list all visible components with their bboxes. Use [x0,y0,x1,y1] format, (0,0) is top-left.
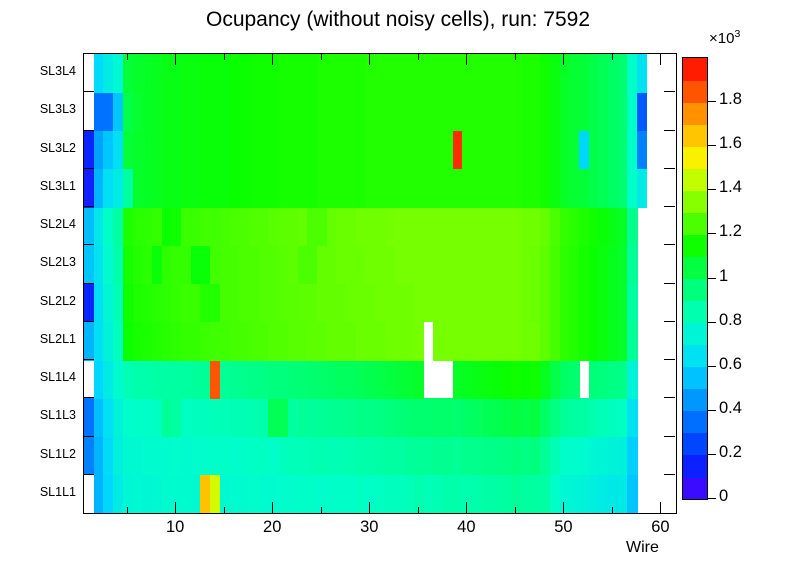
y-axis-label-sl3l4: SL3L4 [28,64,76,78]
y-axis-tick [664,283,675,284]
x-axis-tick [321,54,322,60]
y-axis-label-sl1l1: SL1L1 [28,485,76,499]
colorbar-segment [683,124,707,147]
x-axis-tick [272,502,273,513]
x-axis-tick [466,54,467,65]
colorbar[interactable] [682,57,708,500]
colorbar-multiplier: ×103 [709,28,740,47]
colorbar-segment [683,212,707,235]
colorbar-segment [683,279,707,302]
colorbar-segment [683,455,707,478]
y-axis-label-sl1l2: SL1L2 [28,447,76,461]
plot-frame [83,53,677,514]
x-axis-tick [563,502,564,513]
y-axis-tick [83,130,94,131]
colorbar-segment [683,301,707,324]
colorbar-label-1p6: 1.6 [719,134,742,153]
x-axis-tick [369,54,370,65]
heatmap-grid[interactable] [84,54,676,513]
y-axis-tick [83,91,94,92]
heatmap-cell [569,360,579,399]
heatmap-cell [414,322,424,361]
x-axis-tick [418,54,419,60]
colorbar-segment [683,345,707,368]
x-axis-tick [515,54,516,60]
colorbar-label-1: 1 [719,267,728,286]
x-axis-tick [224,507,225,513]
heatmap-cell [627,398,637,437]
heatmap-cell [627,360,637,399]
y-axis-tick [83,436,94,437]
y-axis-tick [664,91,675,92]
root-canvas: Ocupancy (without noisy cells), run: 759… [0,0,796,572]
colorbar-tick [708,278,716,279]
y-axis-tick [664,168,675,169]
page-title: Ocupancy (without noisy cells), run: 759… [0,8,796,32]
colorbar-segment [683,146,707,169]
colorbar-tick [708,454,716,455]
y-axis-label-sl2l4: SL2L4 [28,217,76,231]
heatmap-cell [627,245,637,284]
heatmap-cell [637,92,647,131]
colorbar-tick [708,322,716,323]
x-axis-label-50: 50 [543,518,583,537]
y-axis-tick [664,206,675,207]
y-axis-tick [664,397,675,398]
y-axis-tick [664,436,675,437]
colorbar-segment [683,80,707,103]
x-axis-tick [272,54,273,65]
x-axis-tick [563,54,564,65]
colorbar-label-1p8: 1.8 [719,90,742,109]
colorbar-tick [708,145,716,146]
colorbar-tick [708,101,716,102]
heatmap-cell [627,475,637,513]
x-axis-label-10: 10 [155,518,195,537]
x-axis-tick [660,54,661,65]
colorbar-tick [708,498,716,499]
y-axis-tick [664,244,675,245]
y-axis-tick [83,359,94,360]
colorbar-segment [683,389,707,412]
heatmap-cell [627,284,637,323]
x-axis-label-30: 30 [349,518,389,537]
colorbar-tick [708,366,716,367]
y-axis-label-sl3l3: SL3L3 [28,102,76,116]
y-axis-label-sl2l3: SL2L3 [28,255,76,269]
x-axis-tick [660,502,661,513]
colorbar-label-0p6: 0.6 [719,355,742,374]
colorbar-tick [708,233,716,234]
y-axis-tick [83,474,94,475]
x-axis-tick [369,502,370,513]
x-axis-tick [175,502,176,513]
colorbar-segment [683,168,707,191]
y-axis-label-sl2l2: SL2L2 [28,294,76,308]
x-axis-tick [612,507,613,513]
y-axis-label-sl3l2: SL3L2 [28,141,76,155]
y-axis-tick [664,130,675,131]
colorbar-multiplier-exponent: 3 [734,28,740,40]
colorbar-tick [708,189,716,190]
colorbar-label-0p2: 0.2 [719,443,742,462]
colorbar-segment [683,234,707,257]
x-axis-tick [127,507,128,513]
colorbar-segment [683,323,707,346]
heatmap-cell [637,54,647,93]
colorbar-segment [683,256,707,279]
x-axis-tick [175,54,176,65]
colorbar-multiplier-base: ×10 [709,30,734,47]
y-axis-tick [83,206,94,207]
colorbar-segment [683,190,707,213]
colorbar-segment [683,433,707,456]
x-axis-tick [515,507,516,513]
colorbar-label-0: 0 [719,487,728,506]
x-axis-tick [466,502,467,513]
x-axis-tick [612,54,613,60]
x-axis-label-20: 20 [252,518,292,537]
heatmap-cell [414,360,424,399]
colorbar-label-1p2: 1.2 [719,222,742,241]
y-axis-tick [664,474,675,475]
y-axis-label-sl1l3: SL1L3 [28,408,76,422]
colorbar-label-0p4: 0.4 [719,399,742,418]
colorbar-label-0p8: 0.8 [719,311,742,330]
heatmap-cell [627,437,637,476]
colorbar-segment [683,477,707,500]
y-axis-tick [83,244,94,245]
x-axis-tick [418,507,419,513]
heatmap-cell [637,131,647,170]
y-axis-tick [664,359,675,360]
colorbar-segment [683,411,707,434]
colorbar-segment [683,102,707,125]
x-axis-label-60: 60 [640,518,680,537]
x-axis-tick [224,54,225,60]
heatmap-cell [627,322,637,361]
y-axis-tick [664,321,675,322]
y-axis-label-sl3l1: SL3L1 [28,179,76,193]
colorbar-tick [708,410,716,411]
x-axis-title: Wire [626,539,659,557]
x-axis-tick [321,507,322,513]
y-axis-tick [83,321,94,322]
heatmap-cell [627,207,637,246]
x-axis-tick [127,54,128,60]
colorbar-label-1p4: 1.4 [719,178,742,197]
heatmap-cell [637,169,647,208]
y-axis-tick [83,283,94,284]
colorbar-segment [683,58,707,81]
colorbar-segment [683,367,707,390]
x-axis-label-40: 40 [446,518,486,537]
y-axis-label-sl1l4: SL1L4 [28,370,76,384]
y-axis-label-sl2l1: SL2L1 [28,332,76,346]
y-axis-tick [83,397,94,398]
y-axis-tick [83,168,94,169]
